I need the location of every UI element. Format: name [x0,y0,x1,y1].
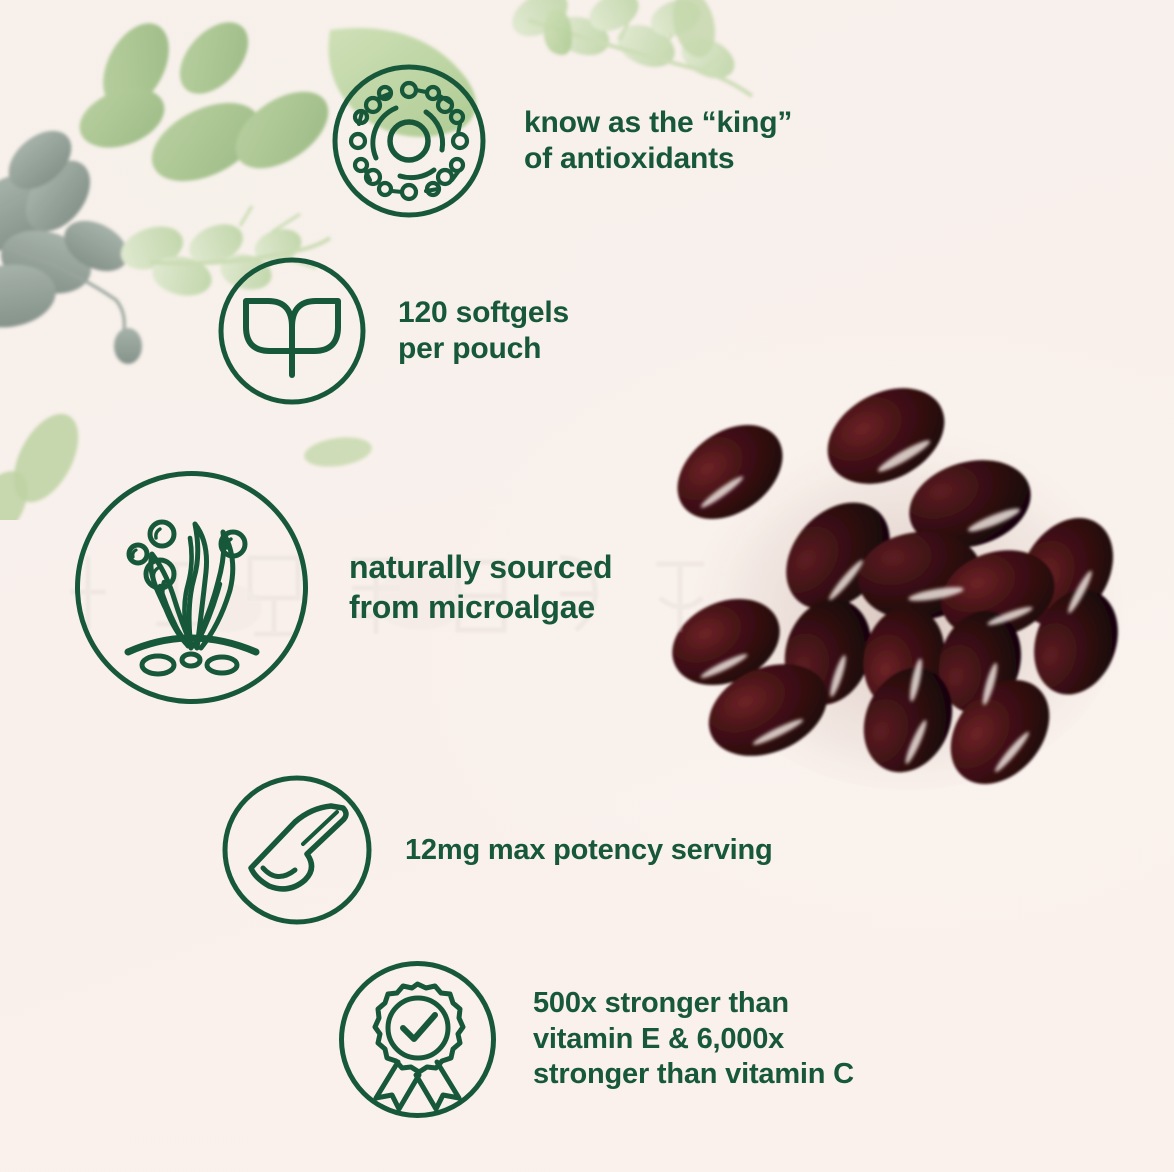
product-feature-infographic: know as the “king” of antioxidants 120 s… [0,0,1174,1172]
feature-label: know as the “king” of antioxidants [524,105,792,177]
spoon-serving-icon [219,772,375,928]
feature-row-antioxidant-strength: 500x stronger than vitamin E & 6,000x st… [336,958,854,1121]
feature-row-microalgae-source: naturally sourced from microalgae [70,466,612,709]
feature-label: 12mg max potency serving [405,833,773,868]
sprout-leaf-icon [216,255,368,407]
feature-label: 500x stronger than vitamin E & 6,000x st… [533,986,854,1092]
feature-row-max-potency: 12mg max potency serving [219,772,773,928]
feature-row-softgel-count: 120 softgels per pouch [216,255,569,407]
softgel-capsule-cluster [668,380,1138,800]
feature-row-antioxidant-king: know as the “king” of antioxidants [330,62,792,220]
feature-label: naturally sourced from microalgae [349,548,612,626]
feature-label: 120 softgels per pouch [398,295,569,367]
seaweed-microalgae-icon [70,466,313,709]
award-badge-check-icon [336,958,499,1121]
antioxidant-molecule-icon [330,62,488,220]
